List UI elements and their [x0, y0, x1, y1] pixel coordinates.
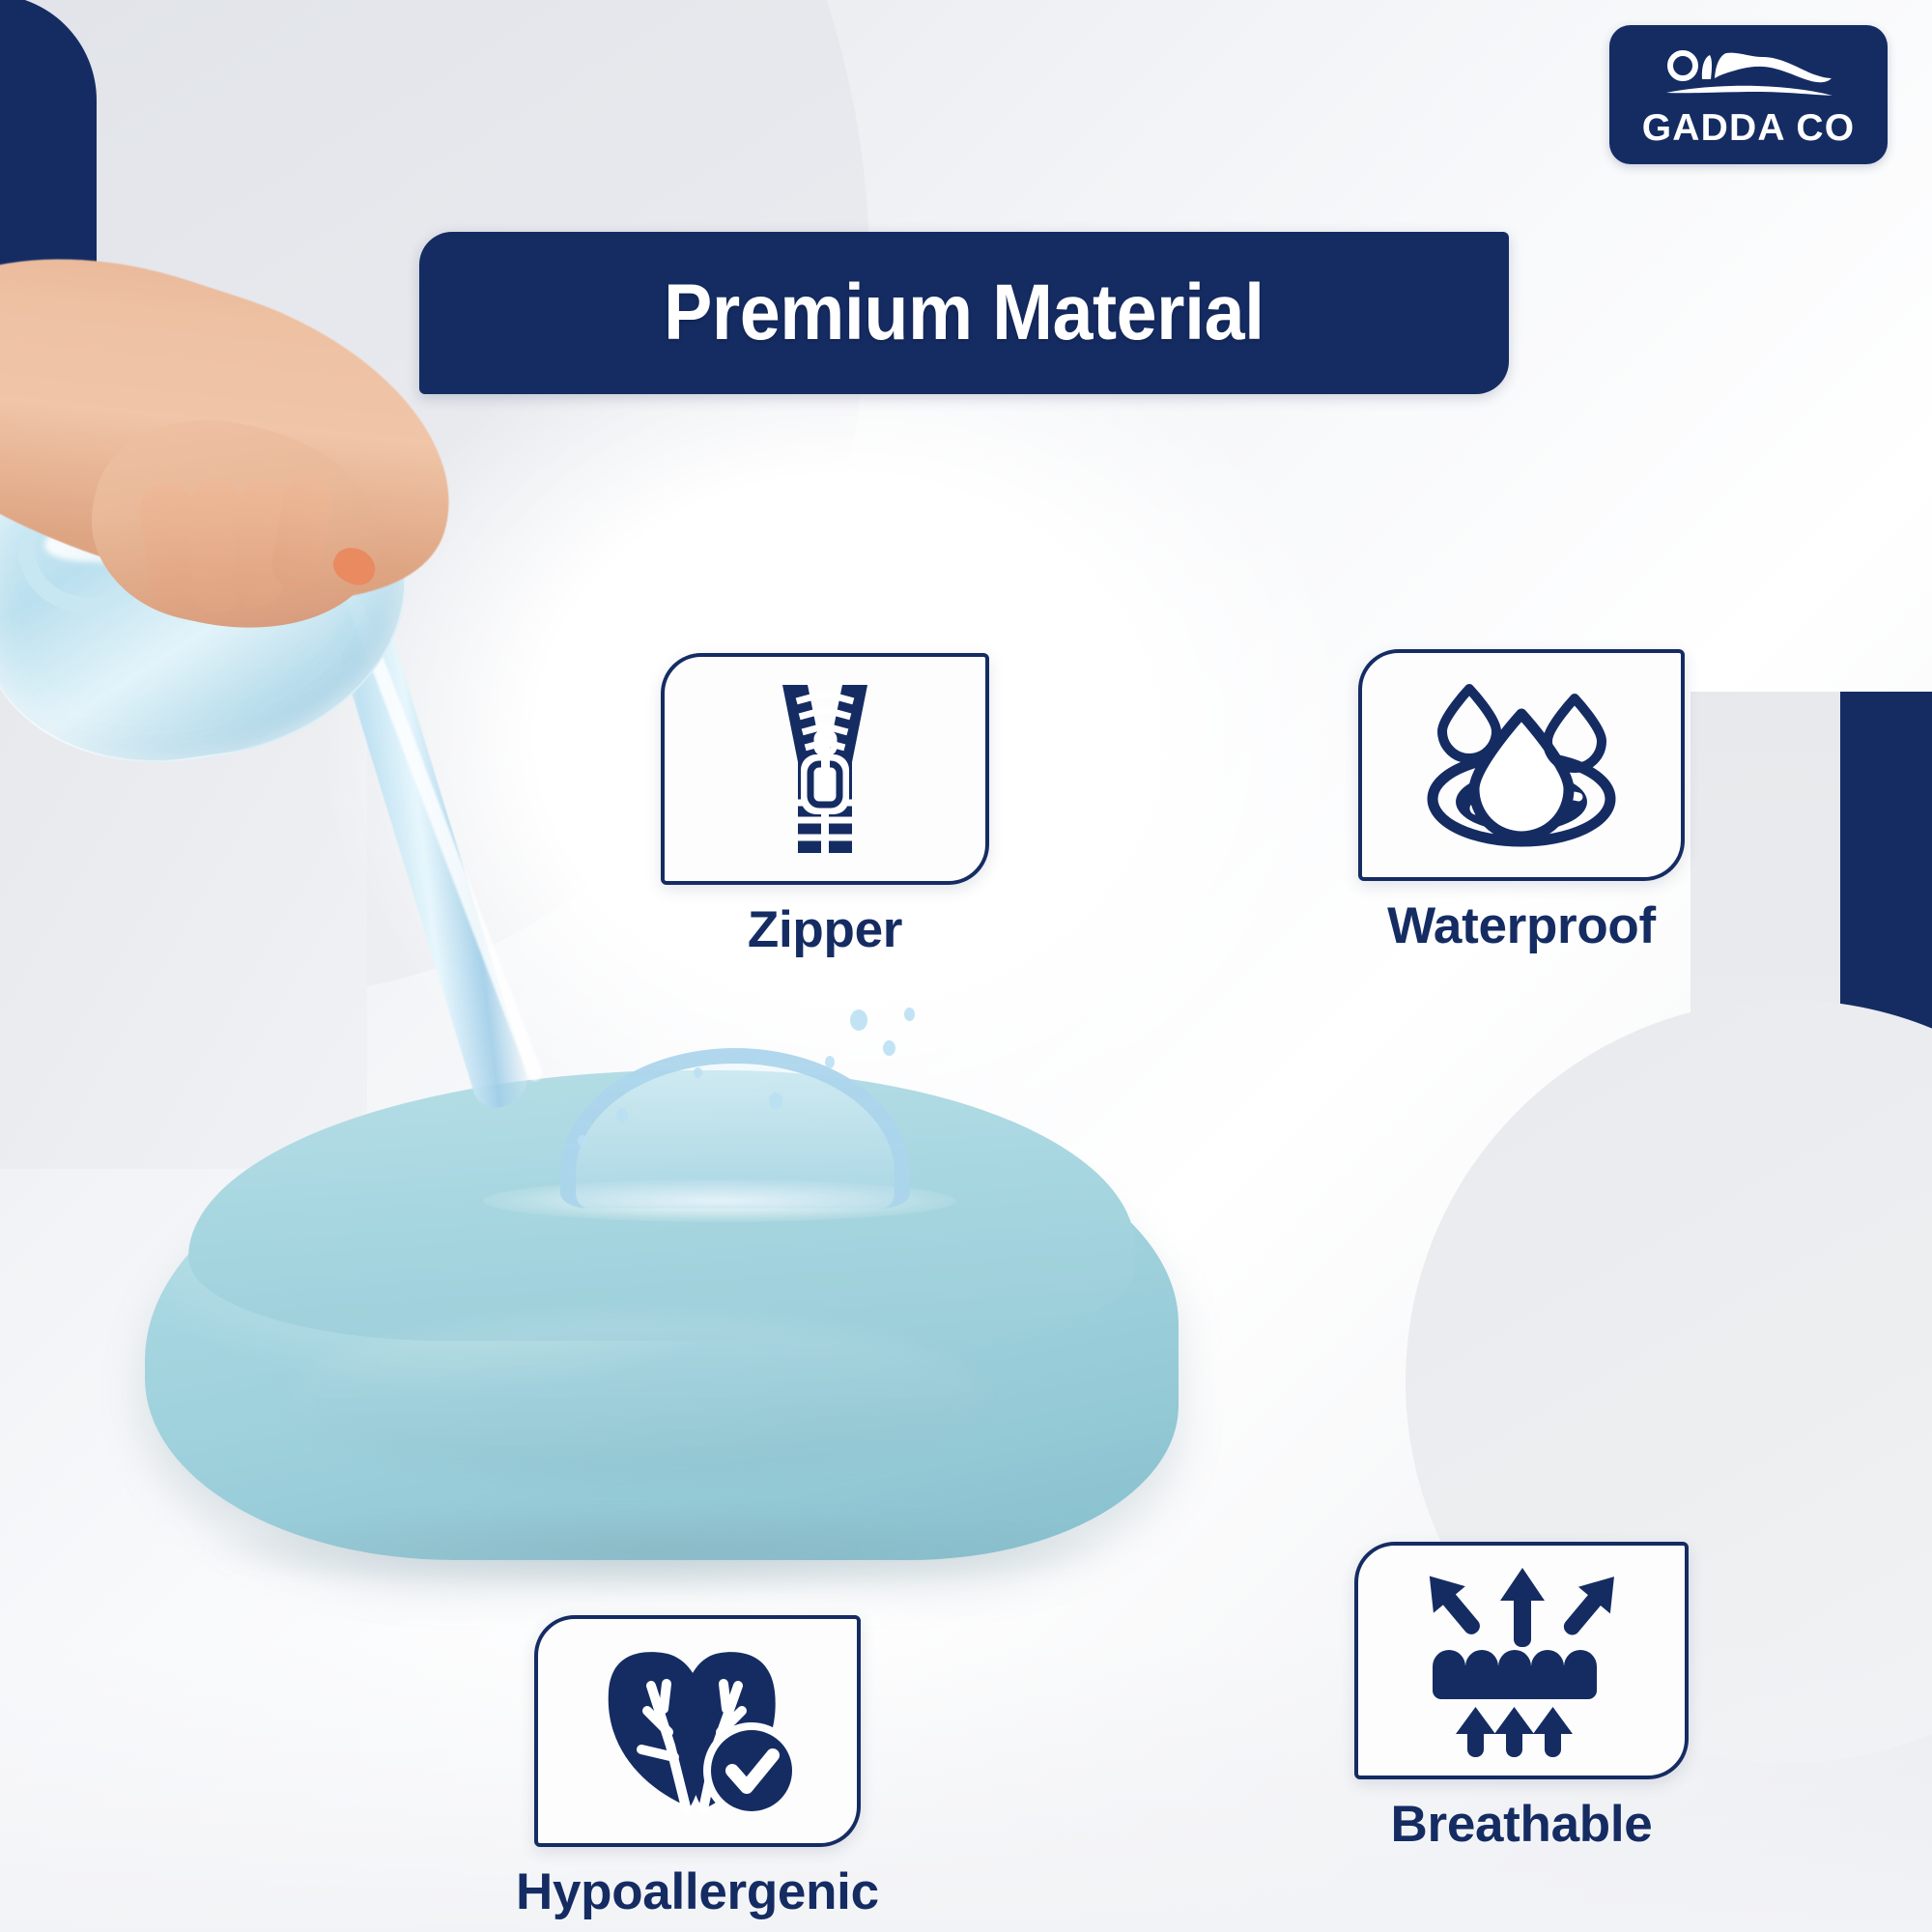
- feature-hypoallergenic-label: Hypoallergenic: [516, 1862, 879, 1921]
- feature-breathable[interactable]: Breathable: [1354, 1542, 1689, 1854]
- feature-zipper[interactable]: Zipper: [661, 653, 989, 959]
- feature-waterproof[interactable]: Waterproof: [1358, 649, 1685, 955]
- feature-hypoallergenic[interactable]: Hypoallergenic: [516, 1615, 879, 1921]
- infographic-canvas: GADDA CO Premium Material: [0, 0, 1932, 1932]
- feature-hypoallergenic-card[interactable]: [534, 1615, 861, 1847]
- feature-waterproof-label: Waterproof: [1387, 896, 1656, 955]
- feature-zipper-label: Zipper: [748, 900, 902, 959]
- page-title-banner: Premium Material: [419, 232, 1509, 394]
- feature-waterproof-card[interactable]: [1358, 649, 1685, 881]
- page-title: Premium Material: [664, 268, 1264, 358]
- background-panel-left: [0, 406, 367, 1169]
- feature-zipper-card[interactable]: [661, 653, 989, 885]
- brand-logo-text: GADDA CO: [1642, 109, 1855, 147]
- zipper-icon: [740, 679, 910, 859]
- water-drops-on-puddle-icon: [1414, 675, 1629, 855]
- pillow-drop-shadow: [193, 1507, 1121, 1594]
- leaves-with-checkmark-icon: [582, 1641, 813, 1821]
- feature-breathable-card[interactable]: [1354, 1542, 1689, 1779]
- sleeping-person-on-mattress-icon: [1657, 46, 1840, 106]
- feature-breathable-label: Breathable: [1391, 1795, 1653, 1854]
- brand-logo[interactable]: GADDA CO: [1609, 25, 1888, 164]
- airflow-arrows-over-mattress-icon: [1413, 1564, 1630, 1757]
